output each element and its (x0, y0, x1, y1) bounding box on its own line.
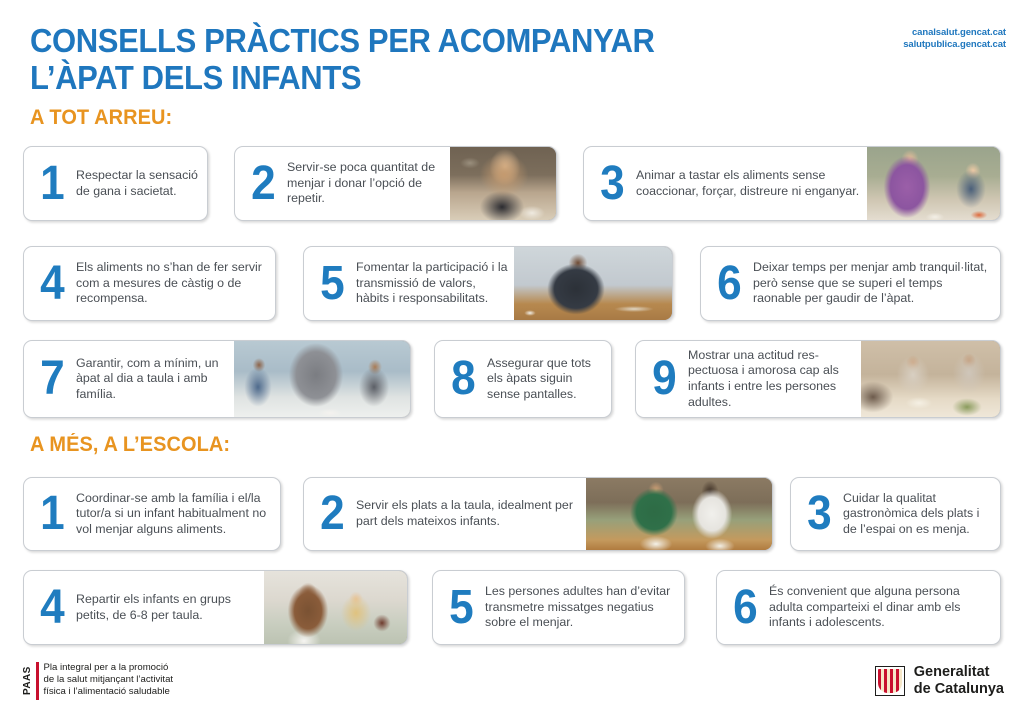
tip-text-5: Fomentar la participació i la transmissi… (350, 260, 508, 307)
school-tip-card-6[interactable]: 6 És convenient que alguna persona adult… (716, 570, 1001, 645)
tip-text-4: Els aliments no s’han de fer servir com … (70, 260, 269, 307)
tip-number-5: 5 (315, 262, 348, 306)
tip-number-7: 7 (35, 357, 68, 401)
school-tip-number-3: 3 (802, 492, 835, 536)
tip-card-1[interactable]: 1 Respectar la sensació de gana i saciet… (23, 146, 208, 221)
school-tip-text-6: És convenient que alguna persona adulta … (763, 584, 994, 631)
section-heading-school: A MÉS, A L’ESCOLA: (30, 433, 230, 457)
link-canalsalut[interactable]: canalsalut.gencat.cat (903, 27, 1006, 39)
tip-number-2: 2 (246, 162, 279, 206)
school-tip-text-4: Repartir els infants en grups petits, de… (70, 592, 258, 623)
page-title-line-2: L’ÀPAT DELS INFANTS (30, 59, 801, 96)
tip-card-6[interactable]: 6 Deixar temps per menjar amb tranquil·l… (700, 246, 1001, 321)
tip-card-4-body: 4 Els aliments no s’han de fer servir co… (24, 247, 275, 320)
tip-card-8[interactable]: 8 Assegurar que tots els àpats siguin se… (434, 340, 612, 418)
paas-acronym: PAAS (22, 662, 34, 700)
tip-text-2: Servir-se poca quantitat de menjar i don… (281, 160, 444, 207)
tip-number-1: 1 (35, 162, 68, 206)
school-tip-text-3: Cuidar la qualitat gastronòmica dels pla… (837, 491, 994, 538)
generalitat-line-2: de Catalunya (914, 681, 1004, 698)
tip-card-7[interactable]: 7 Garantir, com a mínim, un àpat al dia … (23, 340, 411, 418)
school-tip-number-5: 5 (444, 586, 477, 630)
photo-family-sharing-a-meal (861, 341, 1000, 417)
website-links: canalsalut.gencat.cat salutpublica.genca… (903, 27, 1006, 51)
tip-card-7-body: 7 Garantir, com a mínim, un àpat al dia … (24, 341, 234, 417)
catalonia-shield-stripes (878, 669, 902, 693)
tip-text-9: Mostrar una actitud res-pectuosa i amoro… (682, 348, 855, 410)
link-salutpublica[interactable]: salutpublica.gencat.cat (903, 39, 1006, 51)
photo-family-cooking-together (234, 341, 410, 417)
tip-text-6: Deixar temps per menjar amb tranquil·lit… (747, 260, 994, 307)
school-tip-number-6: 6 (728, 586, 761, 630)
paas-logo: PAAS Pla integral per a la promoció de l… (22, 662, 173, 700)
tip-card-8-body: 8 Assegurar que tots els àpats siguin se… (435, 341, 611, 417)
tip-card-6-body: 6 Deixar temps per menjar amb tranquil·l… (701, 247, 1000, 320)
school-tip-card-3-body: 3 Cuidar la qualitat gastronòmica dels p… (791, 478, 1000, 550)
photo-child-setting-the-table (514, 247, 672, 320)
school-tip-card-1-body: 1 Coordinar-se amb la família i el/la tu… (24, 478, 280, 550)
tip-text-8: Assegurar que tots els àpats siguin sens… (481, 356, 605, 403)
poster-footer: PAAS Pla integral per a la promoció de l… (0, 654, 1024, 724)
school-tip-card-4-body: 4 Repartir els infants en grups petits, … (24, 571, 264, 644)
tip-text-7: Garantir, com a mínim, un àpat al dia a … (70, 356, 228, 403)
school-tip-card-5-body: 5 Les persones adultes han d’evitar tran… (433, 571, 684, 644)
school-tip-card-1[interactable]: 1 Coordinar-se amb la família i el/la tu… (23, 477, 281, 551)
generalitat-logo: Generalitat de Catalunya (875, 664, 1004, 697)
paas-tagline-line-3: física i l’alimentació saludable (44, 686, 174, 698)
paas-tagline-line-2: de la salut mitjançant l’activitat (44, 674, 174, 686)
school-tip-text-2: Servir els plats a la taula, idealment p… (350, 498, 580, 529)
paas-tagline: Pla integral per a la promoció de la sal… (44, 662, 174, 700)
tip-text-3: Animar a tastar els aliments sense coacc… (630, 168, 861, 199)
school-tip-card-2[interactable]: 2 Servir els plats a la taula, idealment… (303, 477, 773, 551)
catalonia-shield-icon (875, 666, 905, 696)
tip-number-4: 4 (35, 262, 68, 306)
tip-card-3-body: 3 Animar a tastar els aliments sense coa… (584, 147, 867, 220)
school-tip-number-2: 2 (315, 492, 348, 536)
poster-header: CONSELLS PRÀCTICS PER ACOMPANYAR L’ÀPAT … (0, 0, 1024, 100)
photo-children-eating-at-school-canteen (586, 478, 772, 550)
generalitat-line-1: Generalitat (914, 664, 1004, 681)
school-tip-number-4: 4 (35, 586, 68, 630)
school-tip-text-5: Les persones adultes han d’evitar transm… (479, 584, 678, 631)
school-tip-card-2-body: 2 Servir els plats a la taula, idealment… (304, 478, 586, 550)
school-tip-card-4[interactable]: 4 Repartir els infants en grups petits, … (23, 570, 408, 645)
tip-card-5-body: 5 Fomentar la participació i la transmis… (304, 247, 514, 320)
tip-card-9-body: 9 Mostrar una actitud res-pectuosa i amo… (636, 341, 861, 417)
tip-card-1-body: 1 Respectar la sensació de gana i saciet… (24, 147, 207, 220)
tip-card-2-body: 2 Servir-se poca quantitat de menjar i d… (235, 147, 450, 220)
photo-girl-eating-at-table (450, 147, 556, 220)
tip-card-9[interactable]: 9 Mostrar una actitud res-pectuosa i amo… (635, 340, 1001, 418)
school-tip-number-1: 1 (35, 492, 68, 536)
tip-number-8: 8 (446, 357, 479, 401)
page-title-line-1: CONSELLS PRÀCTICS PER ACOMPANYAR (30, 22, 801, 59)
poster-root: CONSELLS PRÀCTICS PER ACOMPANYAR L’ÀPAT … (0, 0, 1024, 724)
photo-adult-and-child-talking-at-meal (867, 147, 1000, 220)
school-tip-card-6-body: 6 És convenient que alguna persona adult… (717, 571, 1000, 644)
tip-card-4[interactable]: 4 Els aliments no s’han de fer servir co… (23, 246, 276, 321)
school-tip-card-5[interactable]: 5 Les persones adultes han d’evitar tran… (432, 570, 685, 645)
tip-card-2[interactable]: 2 Servir-se poca quantitat de menjar i d… (234, 146, 557, 221)
section-heading-everywhere: A TOT ARREU: (30, 106, 172, 130)
school-tip-card-3[interactable]: 3 Cuidar la qualitat gastronòmica dels p… (790, 477, 1001, 551)
school-tip-text-1: Coordinar-se amb la família i el/la tuto… (70, 491, 274, 538)
tip-number-3: 3 (595, 162, 628, 206)
paas-tagline-line-1: Pla integral per a la promoció (44, 662, 174, 674)
photo-children-in-small-group-at-table (264, 571, 407, 644)
page-title: CONSELLS PRÀCTICS PER ACOMPANYAR L’ÀPAT … (30, 22, 801, 96)
paas-red-bar (36, 662, 39, 700)
tip-number-6: 6 (712, 262, 745, 306)
generalitat-wordmark: Generalitat de Catalunya (914, 664, 1004, 697)
tip-number-9: 9 (647, 357, 680, 401)
tip-text-1: Respectar la sensació de gana i sacietat… (70, 168, 201, 199)
tip-card-3[interactable]: 3 Animar a tastar els aliments sense coa… (583, 146, 1001, 221)
tip-card-5[interactable]: 5 Fomentar la participació i la transmis… (303, 246, 673, 321)
